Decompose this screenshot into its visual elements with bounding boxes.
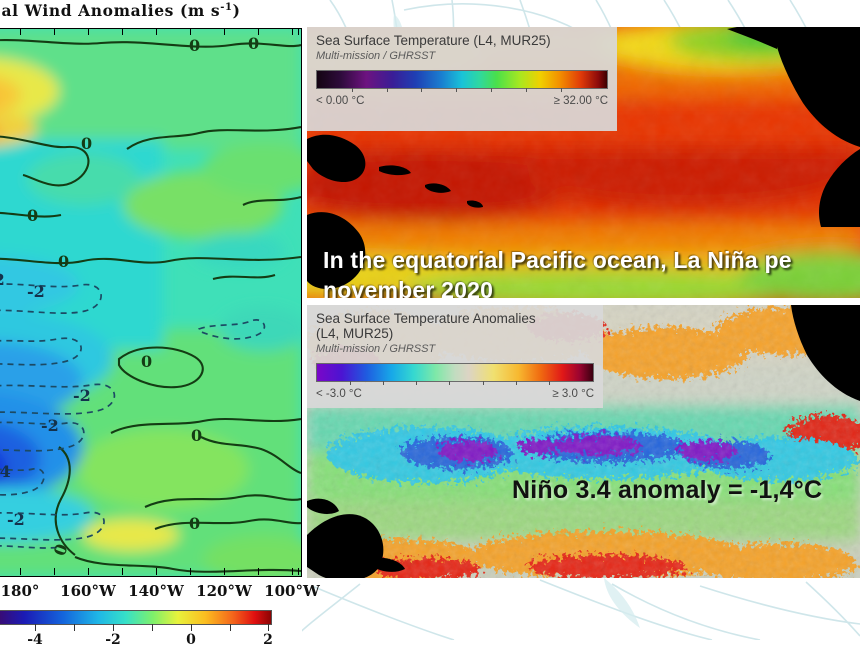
wind-xaxis-bottom-ticks [0, 568, 300, 575]
wind-anomaly-plot-area: 0 0 0 0 0 0 0 0 0 -2 -2 -2 -4 -2 -2 [0, 28, 302, 577]
ssta-legend-title-line-2: (L4, MUR25) [316, 326, 594, 341]
svg-text:0: 0 [189, 36, 200, 55]
svg-text:0: 0 [248, 34, 259, 53]
svg-text:0: 0 [191, 426, 202, 445]
sst-caption-line-1: In the equatorial Pacific ocean, La Niña… [323, 245, 792, 275]
nino34-anomaly-caption: Niño 3.4 anomaly = -1,4°C [512, 475, 822, 505]
wind-xtick-label-4: 100°W [264, 582, 320, 600]
ssta-legend: Sea Surface Temperature Anomalies (L4, M… [307, 305, 603, 408]
sst-anomalies-map-panel[interactable]: Sea Surface Temperature Anomalies (L4, M… [307, 305, 860, 578]
wind-cbar-label-2: 0 [186, 632, 196, 648]
wind-colorbar [0, 610, 272, 625]
wind-xaxis-top-ticks [0, 28, 300, 35]
wind-anomaly-contour-field: 0 0 0 0 0 0 0 0 0 -2 -2 -2 -4 -2 -2 [0, 29, 301, 576]
sst-caption-line-2: november 2020 [323, 275, 792, 298]
sst-range-min: < 0.00 °C [316, 95, 364, 107]
svg-text:0: 0 [27, 206, 38, 225]
ssta-range-min: < -3.0 °C [316, 388, 362, 400]
svg-text:0: 0 [81, 134, 92, 153]
sst-legend-title: Sea Surface Temperature (L4, MUR25) [316, 33, 608, 48]
sst-colorbar [316, 70, 608, 89]
svg-text:-2: -2 [41, 416, 59, 435]
svg-text:-2: -2 [27, 282, 45, 301]
svg-text:-2: -2 [0, 270, 5, 289]
wind-title-prefix: al Wind Anomalies (m s [2, 1, 221, 20]
wind-colorbar-ticks [0, 624, 270, 632]
svg-text:0: 0 [58, 252, 69, 271]
ssta-legend-title-line-1: Sea Surface Temperature Anomalies [316, 311, 594, 326]
ssta-range-max: ≥ 3.0 °C [552, 388, 594, 400]
ssta-colorbar [316, 363, 594, 382]
svg-text:0: 0 [141, 352, 152, 371]
wind-cbar-label-3: 2 [263, 632, 273, 648]
wind-xtick-label-3: 120°W [196, 582, 252, 600]
wind-chart-title: al Wind Anomalies (m s-1) [0, 1, 302, 25]
ssta-legend-subtitle: Multi-mission / GHRSST [316, 342, 594, 356]
wind-xtick-label-2: 140°W [128, 582, 184, 600]
wind-colorbar-labels: -4 -2 0 2 [0, 632, 270, 648]
wind-xtick-label-0: 180° [1, 582, 40, 600]
sst-legend: Sea Surface Temperature (L4, MUR25) Mult… [307, 27, 617, 131]
wind-cbar-label-1: -2 [105, 632, 121, 648]
wind-xaxis-labels: 180° 160°W 140°W 120°W 100°W [0, 582, 300, 604]
svg-text:-2: -2 [7, 510, 25, 529]
sst-legend-subtitle: Multi-mission / GHRSST [316, 49, 608, 63]
zonal-wind-anomalies-figure: al Wind Anomalies (m s-1) [0, 0, 302, 640]
svg-text:0: 0 [189, 514, 200, 533]
wind-title-exponent: -1 [220, 2, 232, 13]
wind-xtick-label-1: 160°W [60, 582, 116, 600]
svg-text:-4: -4 [0, 462, 11, 481]
sea-surface-temperature-map-panel[interactable]: Sea Surface Temperature (L4, MUR25) Mult… [307, 27, 860, 298]
svg-text:-2: -2 [73, 386, 91, 405]
wind-cbar-label-0: -4 [27, 632, 43, 648]
wind-title-suffix: ) [233, 1, 241, 20]
sst-map-caption: In the equatorial Pacific ocean, La Niña… [323, 245, 792, 298]
sst-range-max: ≥ 32.00 °C [554, 95, 608, 107]
